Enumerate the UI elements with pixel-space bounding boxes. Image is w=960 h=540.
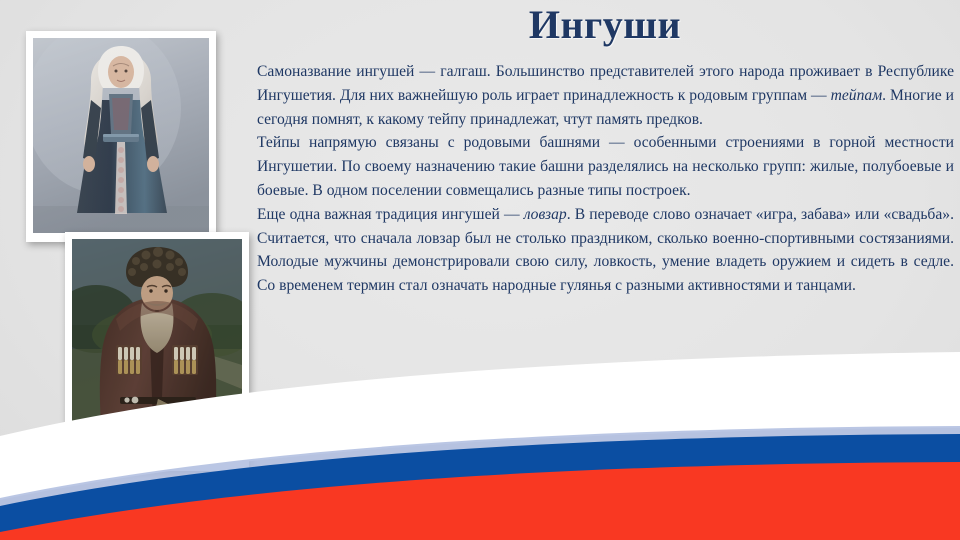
photo-frame-man[interactable] bbox=[65, 232, 249, 471]
run-italic-teipam: тейпам bbox=[831, 87, 883, 104]
paragraph-2: Тейпы напрямую связаны с родовыми башням… bbox=[257, 131, 954, 202]
decorative-dots bbox=[175, 487, 285, 499]
run-italic-lovzar: ловзар bbox=[524, 206, 567, 223]
wave-red bbox=[0, 462, 960, 540]
paragraph-3: Еще одна важная традиция ингушей — ловза… bbox=[257, 203, 954, 298]
page-title: Ингуши bbox=[255, 2, 955, 48]
slide-canvas: Ингуши bbox=[0, 0, 960, 540]
photo-image-man bbox=[72, 239, 242, 462]
article-body: Самоназвание ингушей — галгаш. Большинст… bbox=[257, 60, 954, 298]
photo-frame-woman[interactable] bbox=[26, 31, 216, 242]
paragraph-1: Самоназвание ингушей — галгаш. Большинст… bbox=[257, 60, 954, 131]
run-text: Тейпы напрямую связаны с родовыми башням… bbox=[257, 134, 954, 199]
run-text: Еще одна важная традиция ингушей — bbox=[257, 206, 524, 223]
photo-image-woman bbox=[33, 38, 209, 233]
